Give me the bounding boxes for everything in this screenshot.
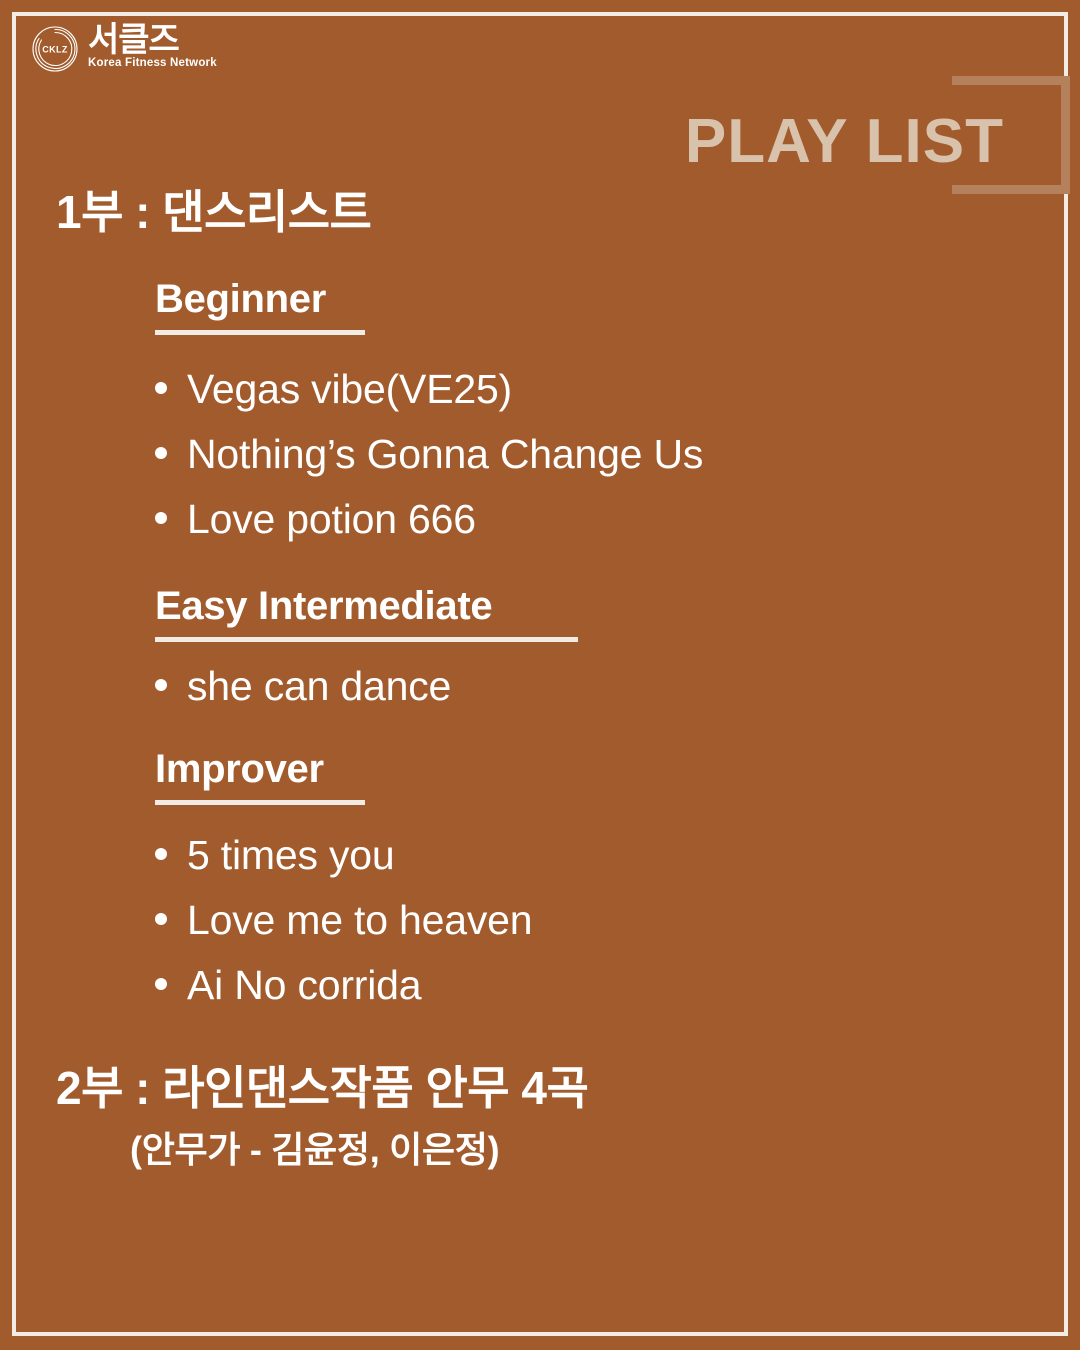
page-title: PLAY LIST: [685, 111, 1022, 173]
bullet-icon: [155, 447, 167, 459]
part-2-title: 2부 : 라인댄스작품 안무 4곡: [0, 1062, 1080, 1115]
list-item: Vegas vibe(VE25): [155, 369, 1080, 410]
list-item: Nothing’s Gonna Change Us: [155, 434, 1080, 475]
playlist-content: 1부 : 댄스리스트 Beginner Vegas vibe(VE25) Not…: [0, 186, 1080, 1173]
song-title: 5 times you: [187, 835, 394, 876]
song-title: Love me to heaven: [187, 900, 532, 941]
list-item: Love potion 666: [155, 499, 1080, 540]
part-1-title: 1부 : 댄스리스트: [0, 186, 1080, 239]
level-block-beginner: Beginner Vegas vibe(VE25) Nothing’s Gonn…: [0, 277, 1080, 540]
bullet-icon: [155, 512, 167, 524]
song-title: Vegas vibe(VE25): [187, 369, 512, 410]
playlist-header: PLAY LIST: [685, 88, 1022, 196]
circle-emblem-icon: CKLZ: [30, 24, 80, 74]
song-list-easy-intermediate: she can dance: [155, 666, 1080, 707]
logo-korean-name: 서클즈: [88, 24, 179, 56]
level-title-easy-intermediate: Easy Intermediate: [155, 584, 1080, 628]
bullet-icon: [155, 978, 167, 990]
level-title-beginner: Beginner: [155, 277, 1080, 321]
list-item: Love me to heaven: [155, 900, 1080, 941]
level-block-improver: Improver 5 times you Love me to heaven A…: [0, 747, 1080, 1006]
song-title: Ai No corrida: [187, 965, 421, 1006]
level-title-improver: Improver: [155, 747, 1080, 791]
bullet-icon: [155, 679, 167, 691]
song-title: she can dance: [187, 666, 451, 707]
song-list-beginner: Vegas vibe(VE25) Nothing’s Gonna Change …: [155, 369, 1080, 540]
song-title: Nothing’s Gonna Change Us: [187, 434, 703, 475]
bullet-icon: [155, 913, 167, 925]
song-title: Love potion 666: [187, 499, 476, 540]
bullet-icon: [155, 848, 167, 860]
level-block-easy-intermediate: Easy Intermediate she can dance: [0, 584, 1080, 707]
list-item: 5 times you: [155, 835, 1080, 876]
logo-tagline: Korea Fitness Network: [88, 57, 217, 69]
brand-logo: CKLZ 서클즈 Korea Fitness Network: [30, 22, 217, 74]
song-list-improver: 5 times you Love me to heaven Ai No corr…: [155, 835, 1080, 1006]
list-item: Ai No corrida: [155, 965, 1080, 1006]
svg-text:CKLZ: CKLZ: [42, 45, 68, 55]
bullet-icon: [155, 382, 167, 394]
list-item: she can dance: [155, 666, 1080, 707]
part-2-subtitle: (안무가 - 김윤정, 이은정): [0, 1121, 1080, 1173]
